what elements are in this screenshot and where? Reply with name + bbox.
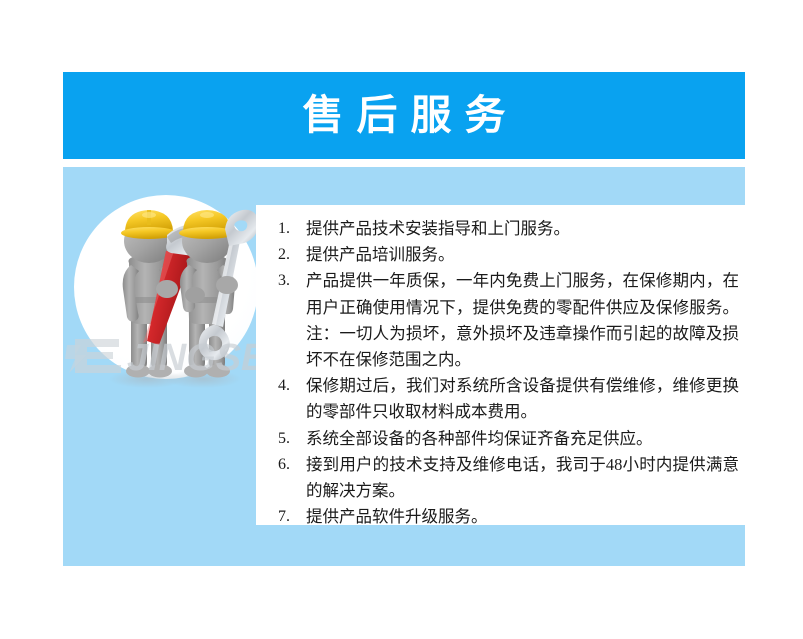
service-poster: 售后服务 — [0, 0, 803, 639]
content-panel: JINGSEE 景厚 提供产品技术安装指导和上门服务。 提供产品培训服务。 产品… — [63, 167, 745, 566]
list-item: 提供产品软件升级服务。 — [276, 504, 739, 530]
list-item: 提供产品技术安装指导和上门服务。 — [276, 216, 739, 242]
service-items-list: 提供产品技术安装指导和上门服务。 提供产品培训服务。 产品提供一年质保，一年内免… — [256, 205, 745, 530]
list-item: 保修期过后，我们对系统所含设备提供有偿维修，维修更换的零部件只收取材料成本费用。 — [276, 373, 739, 425]
list-item: 系统全部设备的各种部件均保证齐备充足供应。 — [276, 426, 739, 452]
list-item: 接到用户的技术支持及维修电话，我司于48小时内提供满意的解决方案。 — [276, 452, 739, 504]
header-banner: 售后服务 — [63, 72, 745, 159]
list-item: 产品提供一年质保，一年内免费上门服务，在保修期内，在用户正确使用情况下，提供免费… — [276, 268, 739, 373]
illustration-circle-backdrop — [74, 195, 258, 379]
service-content-card: 提供产品技术安装指导和上门服务。 提供产品培训服务。 产品提供一年质保，一年内免… — [256, 205, 745, 525]
page-title: 售后服务 — [290, 95, 519, 136]
list-item: 提供产品培训服务。 — [276, 242, 739, 268]
